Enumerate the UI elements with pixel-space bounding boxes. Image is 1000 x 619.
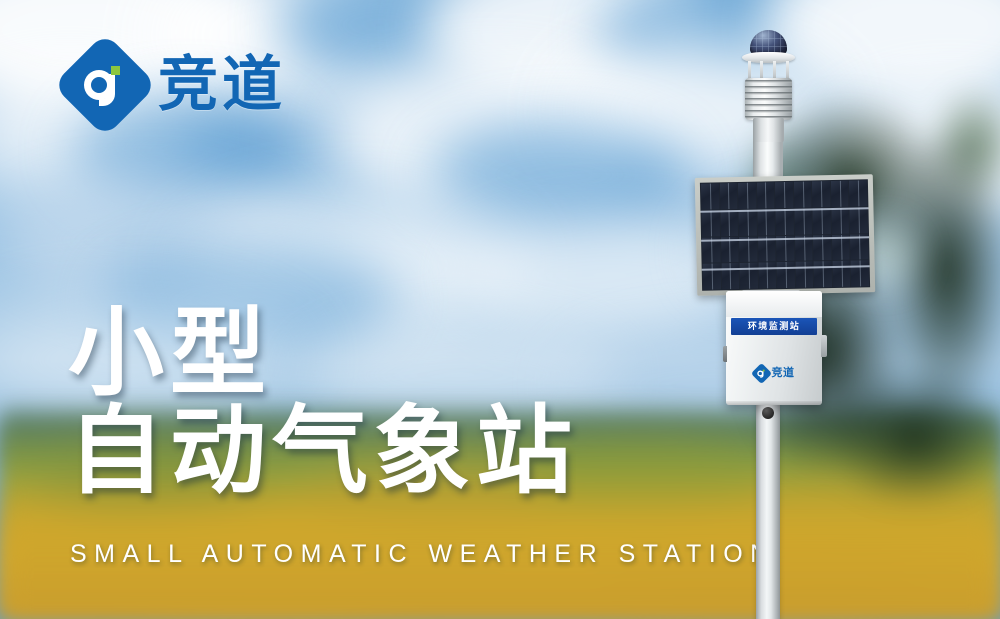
enclosure-right-latch bbox=[821, 335, 827, 357]
sensor-neck bbox=[753, 118, 784, 142]
ultrasonic-weather-sensor-icon bbox=[734, 28, 802, 146]
enclosure-logo-text: 竞道 bbox=[772, 368, 795, 379]
solar-panel-icon bbox=[695, 174, 875, 296]
enclosure-logo: 竞道 bbox=[726, 363, 822, 383]
enclosure-banner: 环境监测站 bbox=[731, 318, 817, 335]
enclosure-left-latch bbox=[723, 346, 727, 362]
product-banner: 竞道 小型 自动气象站 SMALL AUTOMATIC WEATHER STAT… bbox=[0, 0, 1000, 619]
pole-sensor-port bbox=[762, 407, 774, 419]
enclosure-banner-label: 环境监测站 bbox=[748, 322, 801, 331]
headline-subtitle: SMALL AUTOMATIC WEATHER STATION bbox=[70, 540, 776, 569]
enclosure-top bbox=[726, 291, 822, 317]
jingdao-diamond-logo-icon bbox=[754, 366, 769, 381]
page-title: 小型 自动气象站 bbox=[68, 305, 578, 501]
brand-name: 竞道 bbox=[158, 55, 286, 115]
headline-line-2: 自动气象站 bbox=[68, 403, 578, 501]
weather-station-product: 环境监测站 竞道 bbox=[690, 28, 880, 619]
radiation-shield bbox=[745, 78, 792, 120]
enclosure-bottom-edge bbox=[726, 401, 822, 405]
jingdao-diamond-logo-icon bbox=[68, 48, 142, 122]
brand-logo: 竞道 bbox=[68, 48, 286, 122]
enclosure-box: 环境监测站 竞道 bbox=[726, 291, 822, 405]
headline-line-1: 小型 bbox=[68, 305, 578, 403]
solar-cell-grid bbox=[700, 179, 870, 290]
